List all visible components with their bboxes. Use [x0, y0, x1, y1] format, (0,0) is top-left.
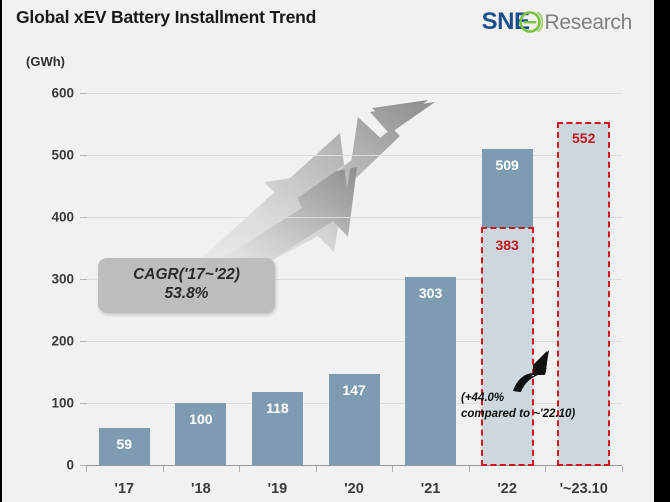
y-axis-tick-label: 600	[2, 86, 74, 101]
slide-canvas: Global xEV Battery Installment Trend SNE…	[0, 0, 670, 502]
y-axis-tick-mark	[80, 93, 87, 94]
x-axis-label-22: '22	[497, 481, 517, 497]
x-axis-tick-mark	[469, 466, 470, 472]
x-axis-label-21: '21	[421, 481, 441, 497]
bar-value-label: 100	[189, 411, 212, 427]
y-axis-tick-label: 300	[2, 272, 74, 287]
growth-note-line-2: compared to ~'22.10)	[461, 407, 575, 423]
y-axis-tick-mark	[80, 279, 87, 280]
x-axis-tick-mark	[392, 466, 393, 472]
bar-21[interactable]	[405, 277, 456, 465]
y-axis-tick-mark	[80, 155, 87, 156]
gridline	[86, 93, 622, 94]
cagr-line-1: CAGR('17~'22)	[104, 265, 269, 284]
y-axis-tick-label: 200	[2, 334, 74, 349]
y-axis-tick-mark	[80, 341, 87, 342]
chart-page: Global xEV Battery Installment Trend SNE…	[2, 0, 654, 502]
gridline	[86, 155, 622, 156]
cagr-line-2: 53.8%	[104, 284, 269, 303]
y-axis-tick-mark	[80, 217, 87, 218]
bar-value-label: 118	[266, 400, 289, 416]
y-axis-tick-label: 400	[2, 210, 74, 225]
growth-note-text: (+44.0% compared to ~'22.10)	[461, 391, 575, 422]
x-axis-label-18: '18	[191, 481, 211, 497]
x-axis-label-17: '17	[114, 481, 134, 497]
x-axis-tick-mark	[163, 466, 164, 472]
comparison-value-label: 383	[495, 237, 518, 253]
x-axis-line	[86, 465, 622, 466]
x-axis-label-19: '19	[268, 481, 288, 497]
y-axis-tick-label: 500	[2, 148, 74, 163]
x-axis-label-20: '20	[344, 481, 364, 497]
y-axis-tick-label: 100	[2, 396, 74, 411]
x-axis-label-23.10: '~23.10	[560, 481, 608, 497]
bar-value-label: 303	[419, 285, 442, 301]
plot-area: 010020030040050060059'17100'18118'19147'…	[2, 0, 654, 502]
bar-value-label: 509	[495, 157, 518, 173]
x-axis-tick-mark	[622, 466, 623, 472]
cagr-callout: CAGR('17~'22) 53.8%	[98, 258, 275, 313]
x-axis-tick-mark	[86, 466, 87, 472]
growth-note-line-1: (+44.0%	[461, 391, 575, 407]
bar-value-label: 59	[116, 436, 132, 452]
x-axis-tick-mark	[239, 466, 240, 472]
y-axis-tick-mark	[80, 403, 87, 404]
x-axis-tick-mark	[545, 466, 546, 472]
gridline	[86, 217, 622, 218]
bar-value-label: 147	[342, 382, 365, 398]
growth-note-arrow-icon	[510, 342, 556, 394]
y-axis-tick-label: 0	[2, 458, 74, 473]
x-axis-tick-mark	[316, 466, 317, 472]
